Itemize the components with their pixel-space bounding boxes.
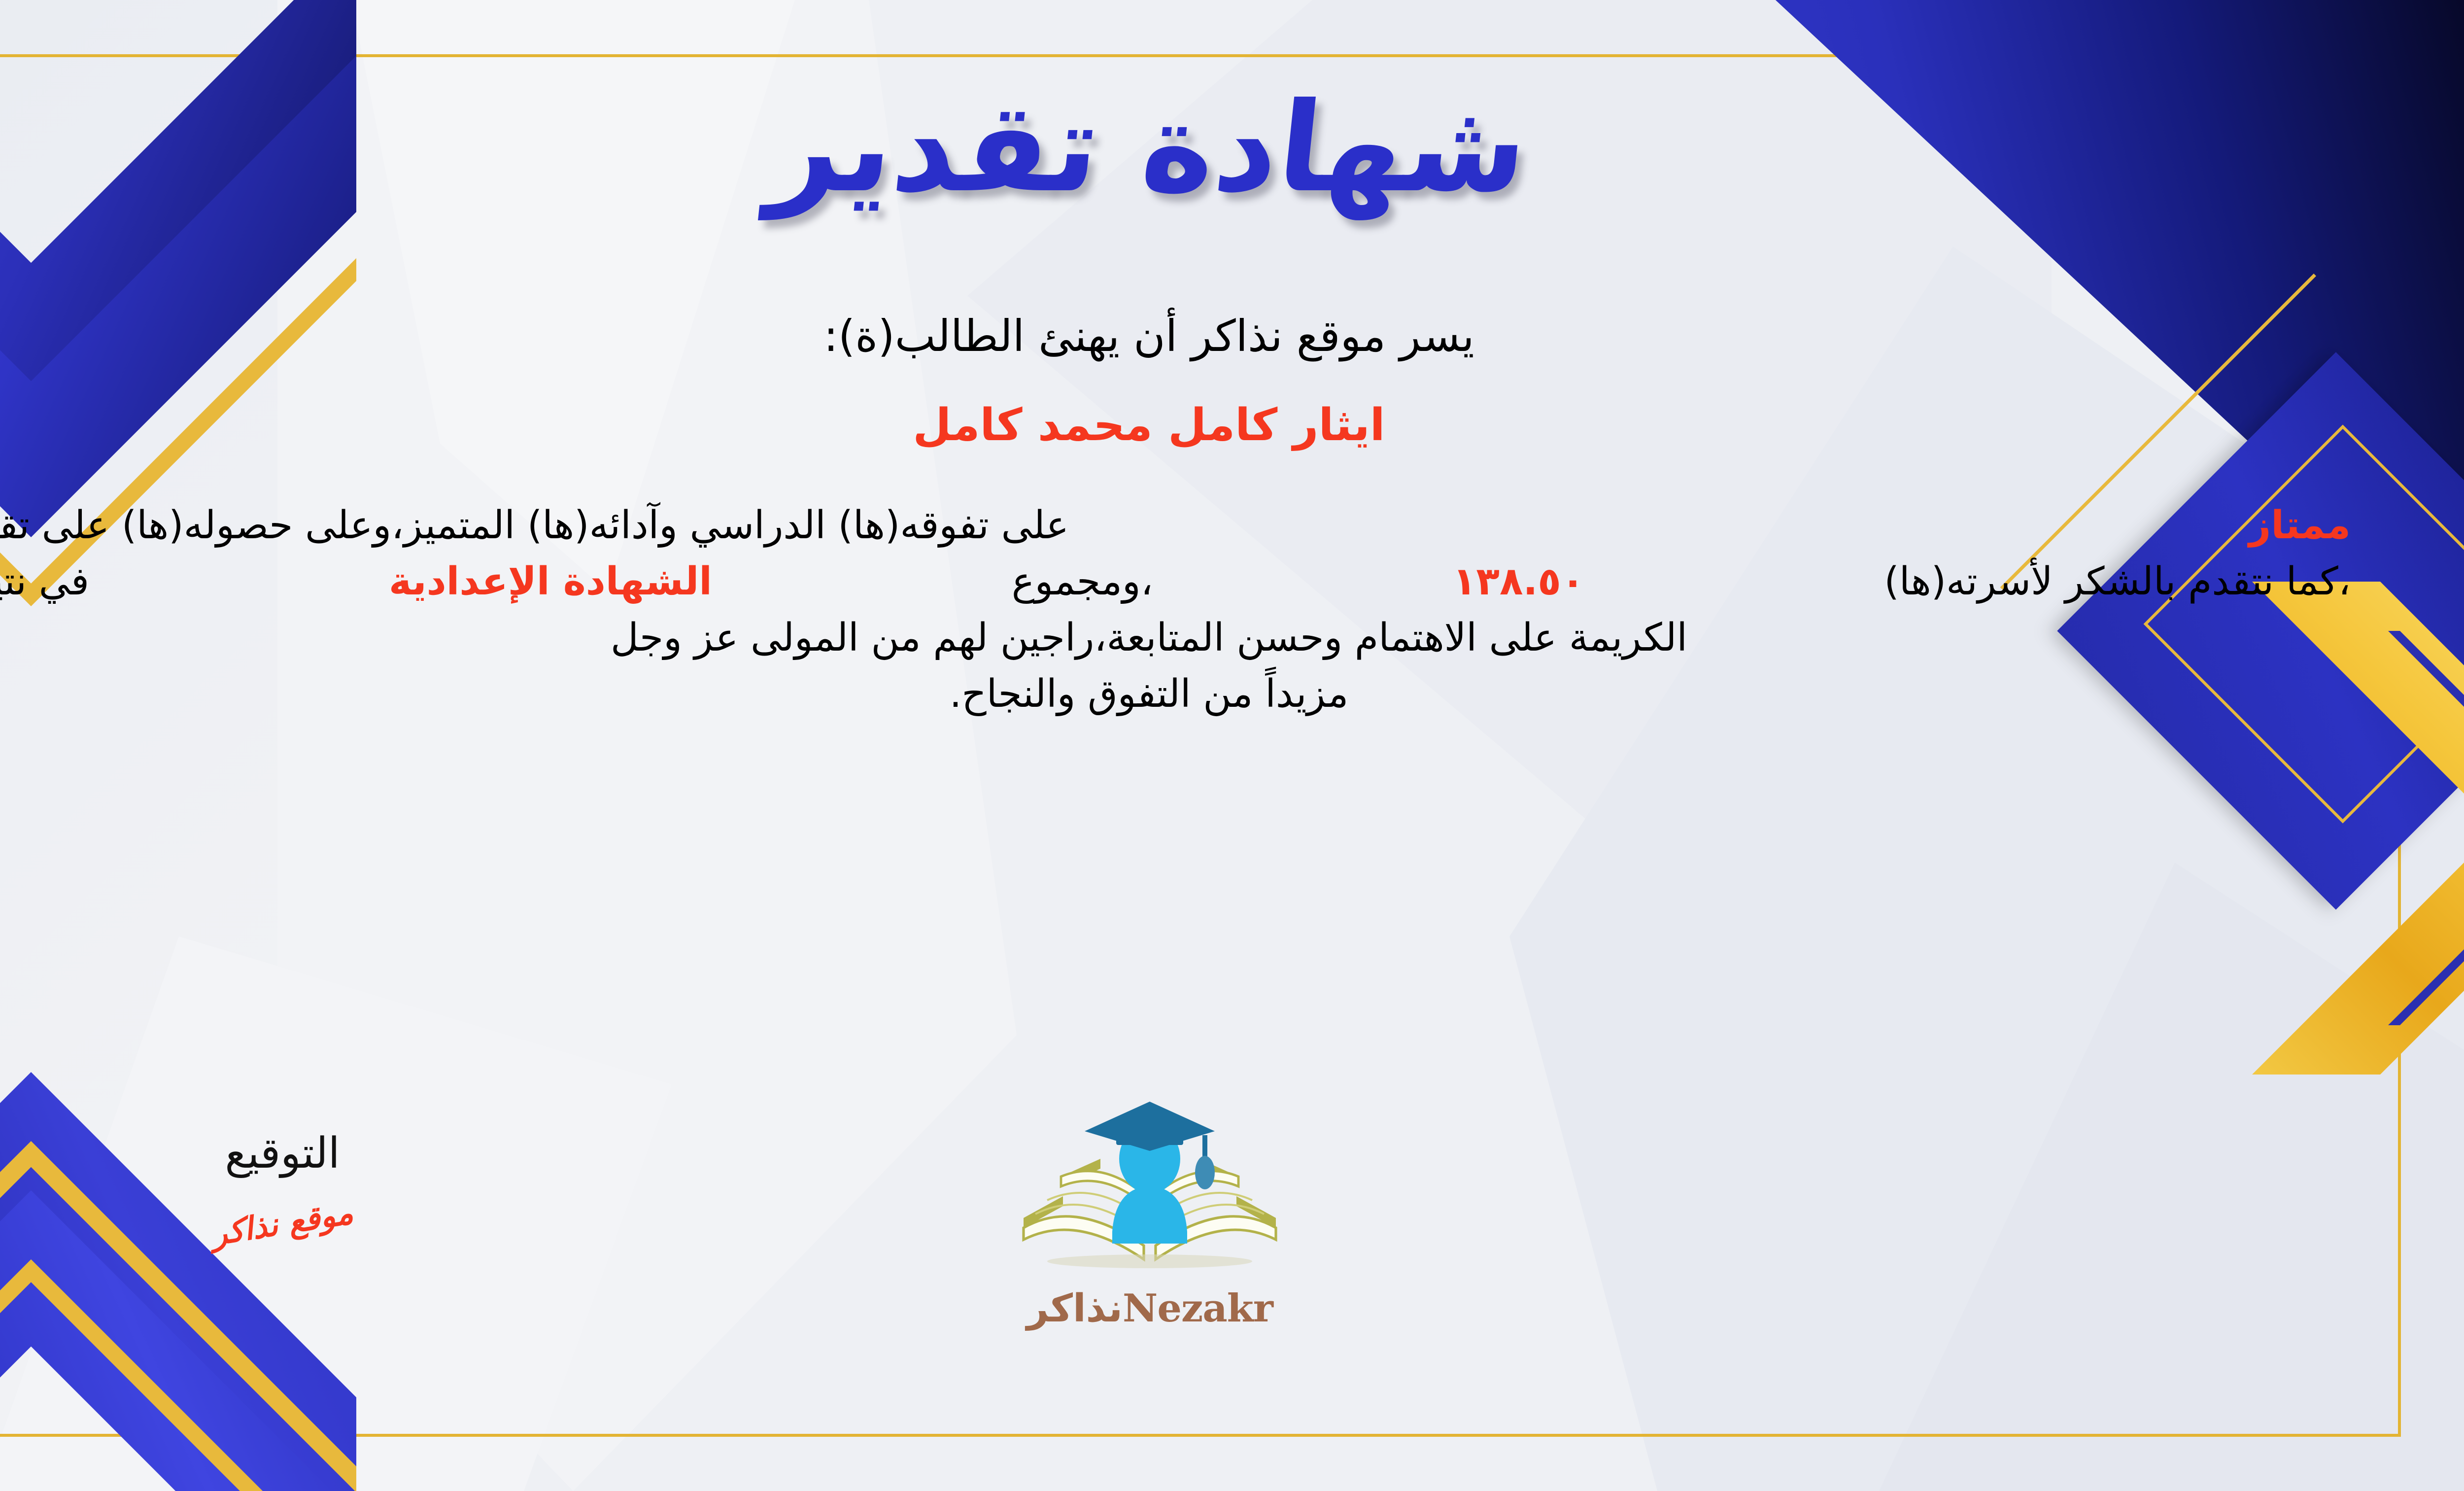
body-line-2-right: في نتيجة [0, 554, 89, 610]
grade-value: ممتاز [2249, 498, 2351, 554]
body-paragraph: ممتاز على تفوقه(ها) الدراسي وآدائه(ها) ا… [0, 498, 2351, 723]
student-name: ايثار كامل محمد كامل [0, 399, 2380, 451]
body-line-1: ممتاز على تفوقه(ها) الدراسي وآدائه(ها) ا… [0, 498, 2351, 554]
certificate-canvas: شهادة تقدير يسر موقع نذاكر أن يهنئ الطال… [0, 0, 2464, 1491]
total-score-value: ١٣٨.٥٠ [1453, 554, 1585, 610]
body-line-1-text: على تفوقه(ها) الدراسي وآدائه(ها) المتميز… [0, 498, 1069, 554]
logo-wordmark: Nezakrنذاكر [982, 1286, 1317, 1331]
certificate-title: شهادة تقدير [0, 86, 2387, 209]
signature-block: التوقيع موقع نذاكر [110, 1129, 455, 1242]
body-line-4: مزيداً من التفوق والنجاح. [0, 666, 2351, 723]
logo-name-latin: Nezakr [1123, 1286, 1273, 1331]
body-line-2-mid: ،ومجموع [1012, 554, 1153, 610]
site-logo: Nezakrنذاكر [982, 1102, 1317, 1331]
body-line-3: الكريمة على الاهتمام وحسن المتابعة،راجين… [0, 610, 2351, 666]
logo-name-arabic: نذاكر [1027, 1286, 1123, 1331]
body-line-2: ،كما نتقدم بالشكر لأسرته(ها) ١٣٨.٥٠ ،ومج… [0, 554, 2351, 610]
graduate-book-icon [1012, 1102, 1288, 1289]
exam-name-value: الشهادة الإعدادية [389, 554, 712, 610]
signature-label: التوقيع [110, 1129, 455, 1178]
body-line-2-left: ،كما نتقدم بالشكر لأسرته(ها) [1884, 554, 2351, 610]
intro-line: يسر موقع نذاكر أن يهنئ الطالب(ة): [0, 311, 2380, 361]
